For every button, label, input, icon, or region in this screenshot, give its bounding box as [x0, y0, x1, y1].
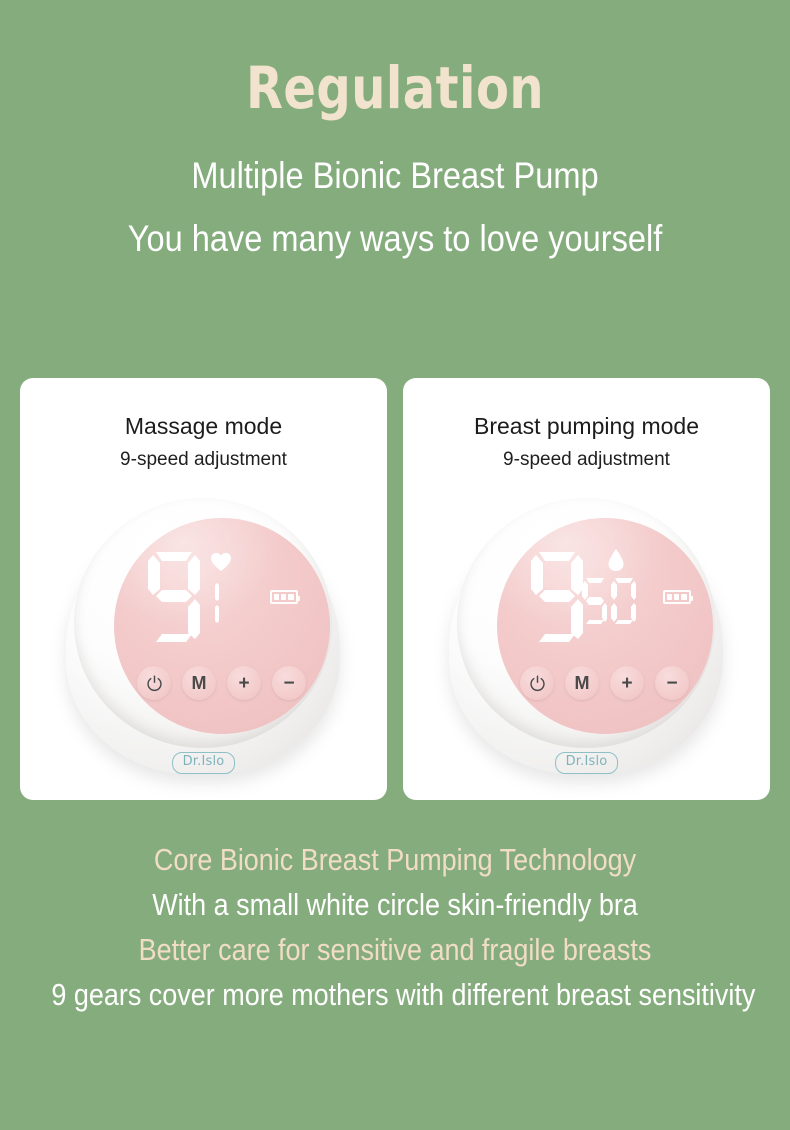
- suction-level-digit: [527, 550, 587, 646]
- brand-logo: Dr.Islo: [172, 752, 236, 774]
- footer-line-4: 9 gears cover more mothers with differen…: [51, 973, 738, 1018]
- decrease-button[interactable]: −: [655, 666, 689, 700]
- footer-feature-list: Core Bionic Breast Pumping Technology Wi…: [0, 838, 790, 1018]
- footer-line-3: Better care for sensitive and fragile br…: [51, 928, 738, 973]
- timer-digit: [581, 576, 607, 626]
- device-top-shell: M + −: [74, 498, 332, 748]
- card-subtitle: 9-speed adjustment: [403, 448, 770, 472]
- card-subtitle: 9-speed adjustment: [20, 448, 387, 472]
- card-heading-group: Massage mode 9-speed adjustment: [20, 378, 387, 472]
- timer-digit: [610, 576, 636, 626]
- power-icon: [146, 675, 163, 692]
- mode-button[interactable]: M: [182, 666, 216, 700]
- device-display-screen: M + −: [497, 518, 713, 734]
- power-button[interactable]: [520, 666, 554, 700]
- brand-logo: Dr.Islo: [555, 752, 619, 774]
- power-button[interactable]: [137, 666, 171, 700]
- header-subtitle-group: Multiple Bionic Breast Pump You have man…: [0, 145, 790, 271]
- display-readout: [114, 546, 330, 650]
- page-header: Regulation Multiple Bionic Breast Pump Y…: [0, 0, 790, 271]
- timer-readout: [206, 580, 219, 626]
- product-card-breast-pumping-mode[interactable]: Breast pumping mode 9-speed adjustment: [403, 378, 770, 800]
- control-button-row: M + −: [114, 666, 330, 700]
- battery-bar: [288, 594, 294, 600]
- device-display-screen: M + −: [114, 518, 330, 734]
- footer-line-2: With a small white circle skin-friendly …: [51, 883, 738, 928]
- timer-digit: [206, 580, 219, 626]
- battery-icon: [663, 590, 691, 604]
- power-icon: [529, 675, 546, 692]
- header-subtitle-line-2: You have many ways to love yourself: [47, 208, 742, 271]
- battery-bar: [667, 594, 673, 600]
- control-button-row: M + −: [497, 666, 713, 700]
- increase-button[interactable]: +: [227, 666, 261, 700]
- product-card-massage-mode[interactable]: Massage mode 9-speed adjustment: [20, 378, 387, 800]
- battery-bar: [681, 594, 687, 600]
- mode-button[interactable]: M: [565, 666, 599, 700]
- card-title: Breast pumping mode: [403, 412, 770, 441]
- battery-bar: [281, 594, 287, 600]
- timer-readout: [581, 576, 636, 626]
- increase-button[interactable]: +: [610, 666, 644, 700]
- card-heading-group: Breast pumping mode 9-speed adjustment: [403, 378, 770, 472]
- page-title: Regulation: [32, 58, 759, 119]
- breast-pump-device: M + − Dr.Islo: [437, 490, 737, 790]
- battery-icon: [270, 590, 298, 604]
- droplet-icon: [607, 548, 625, 572]
- product-card-group: Massage mode 9-speed adjustment: [20, 378, 770, 800]
- battery-bar: [274, 594, 280, 600]
- card-title: Massage mode: [20, 412, 387, 441]
- header-subtitle-line-1: Multiple Bionic Breast Pump: [47, 145, 742, 208]
- footer-line-1: Core Bionic Breast Pumping Technology: [51, 838, 738, 883]
- suction-level-digit: [144, 550, 204, 646]
- battery-bar: [674, 594, 680, 600]
- breast-pump-device: M + − Dr.Islo: [54, 490, 354, 790]
- device-top-shell: M + −: [457, 498, 715, 748]
- display-readout: [497, 546, 713, 650]
- heart-icon: [210, 552, 232, 572]
- decrease-button[interactable]: −: [272, 666, 306, 700]
